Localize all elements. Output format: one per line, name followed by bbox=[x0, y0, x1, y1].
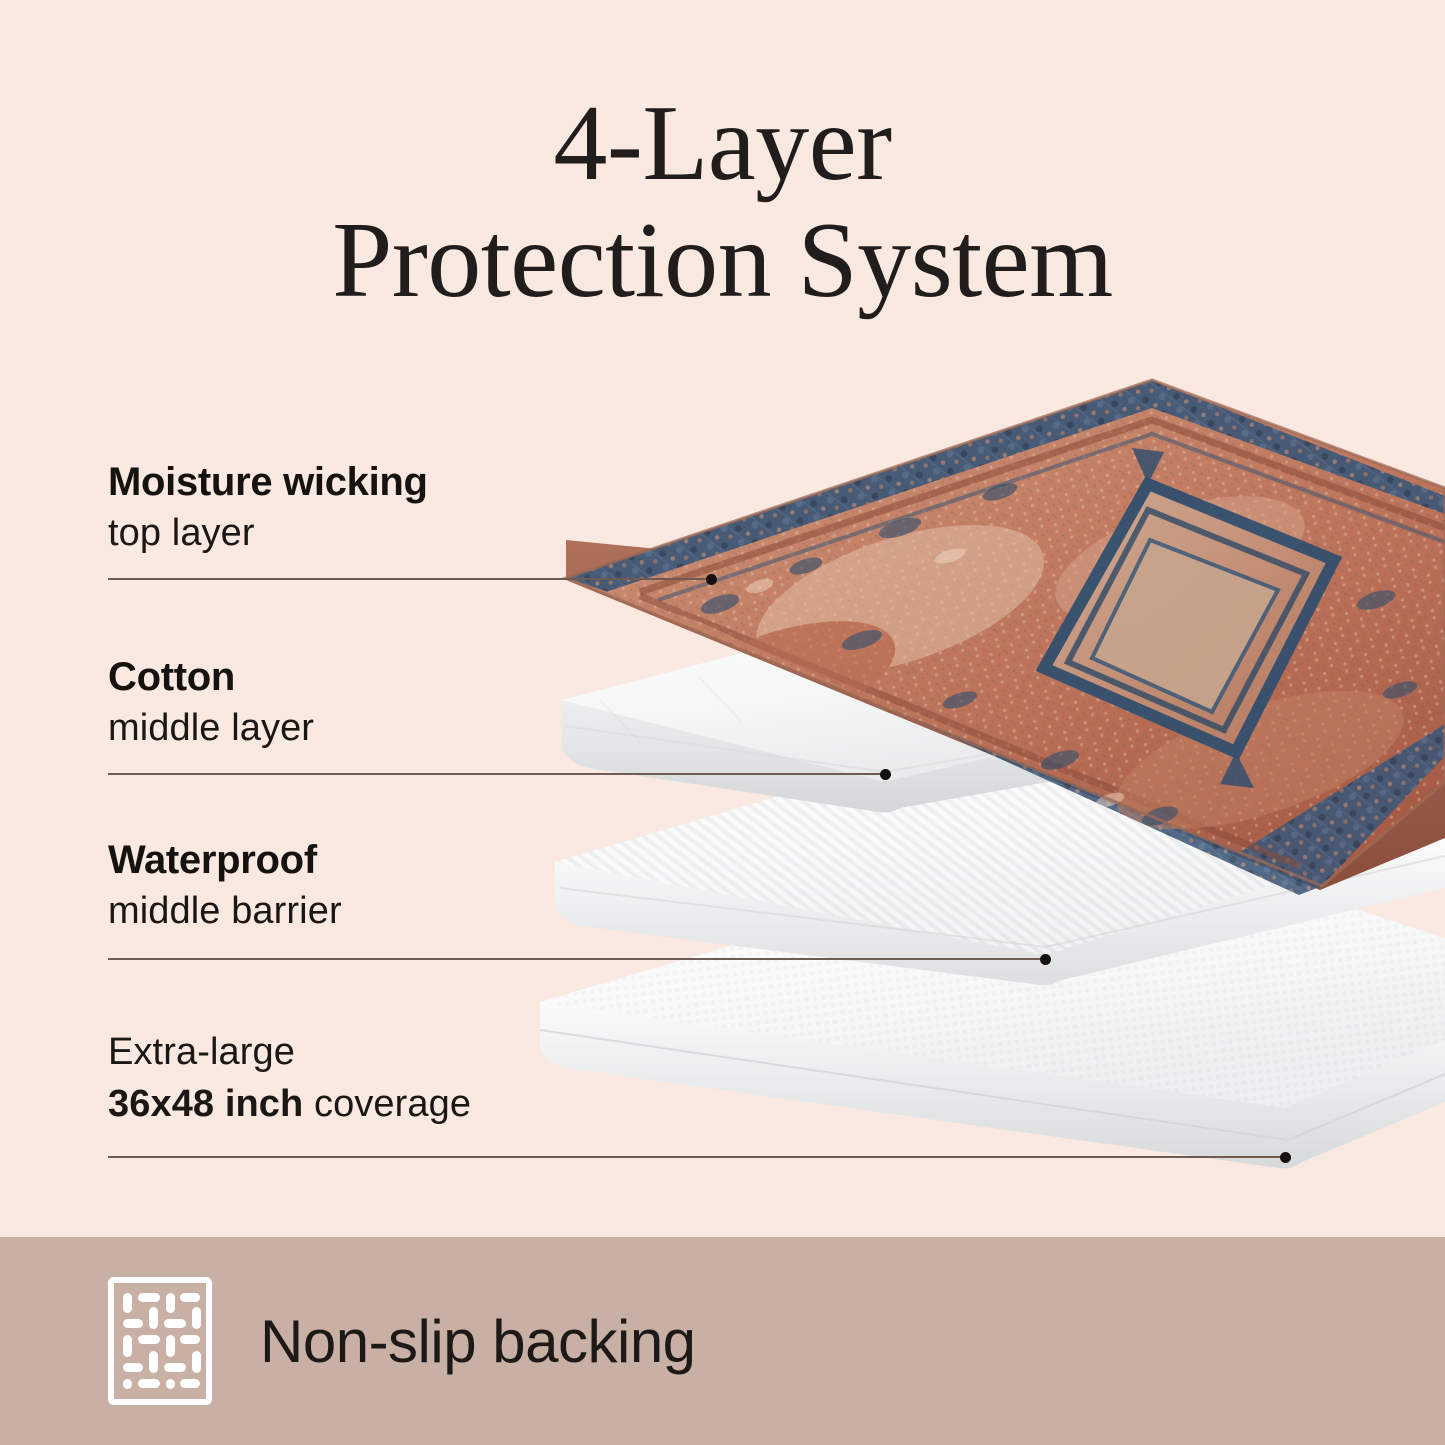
leader-dot-icon bbox=[1040, 954, 1051, 965]
leader-line-waterproof bbox=[108, 958, 1046, 960]
infographic-page: 4-Layer Protection System bbox=[0, 0, 1445, 1445]
callout-subtitle: middle layer bbox=[108, 706, 314, 752]
page-title-line-1: 4-Layer bbox=[0, 86, 1445, 203]
layer-nonslip-backing bbox=[540, 832, 1445, 1168]
callout-title: Moisture wicking bbox=[108, 460, 428, 505]
callout-size: Extra-large 36x48 inch coverage bbox=[108, 1030, 471, 1127]
callout-moisture-wicking: Moisture wicking top layer bbox=[108, 460, 428, 556]
non-slip-weave-icon bbox=[108, 1277, 212, 1405]
leader-line-size bbox=[108, 1156, 1286, 1158]
page-title-line-2: Protection System bbox=[0, 203, 1445, 320]
footer-label: Non-slip backing bbox=[260, 1307, 696, 1376]
leader-line-cotton bbox=[108, 773, 886, 775]
layer-waterproof-barrier bbox=[555, 700, 1445, 985]
callout-title: Waterproof bbox=[108, 838, 342, 883]
callout-size-bottom: 36x48 inch coverage bbox=[108, 1082, 471, 1128]
callout-size-top: Extra-large bbox=[108, 1030, 471, 1076]
footer-bar: Non-slip backing bbox=[0, 1237, 1445, 1445]
callout-subtitle: top layer bbox=[108, 511, 428, 557]
leader-line-moisture-wicking bbox=[108, 578, 712, 580]
callout-size-rest: coverage bbox=[303, 1083, 471, 1125]
callout-cotton: Cotton middle layer bbox=[108, 655, 314, 751]
page-title: 4-Layer Protection System bbox=[0, 86, 1445, 319]
callout-subtitle: middle barrier bbox=[108, 889, 342, 935]
callout-title: Cotton bbox=[108, 655, 314, 700]
callout-size-value: 36x48 inch bbox=[108, 1083, 303, 1125]
callout-waterproof: Waterproof middle barrier bbox=[108, 838, 342, 934]
leader-dot-icon bbox=[706, 574, 717, 585]
leader-dot-icon bbox=[880, 769, 891, 780]
layer-rug-top bbox=[566, 380, 1445, 900]
leader-dot-icon bbox=[1280, 1152, 1291, 1163]
